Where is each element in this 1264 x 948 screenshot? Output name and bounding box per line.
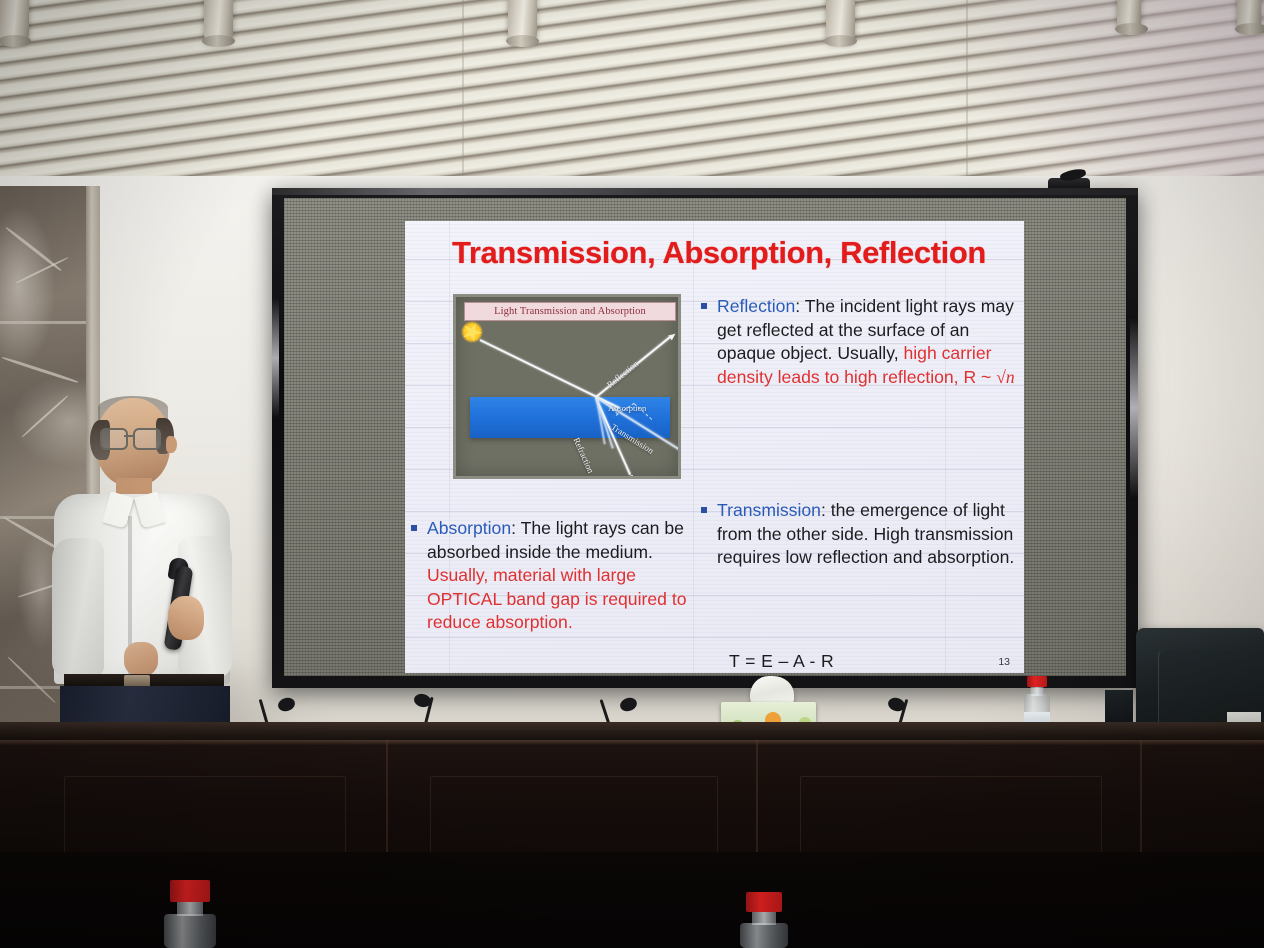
- left-hand: [124, 642, 158, 676]
- screen-bezel-top: [272, 188, 1138, 195]
- diagram-caption: Light Transmission and Absorption: [464, 302, 676, 321]
- ceiling-light-sheen: [834, 0, 1264, 196]
- ceiling-spotlight: [1117, 0, 1141, 30]
- desk-lip: [0, 740, 1264, 745]
- water-bottle[interactable]: [736, 892, 792, 948]
- right-hand: [168, 596, 204, 640]
- bullet-marker: [701, 303, 707, 309]
- lecture-hall-photo: Transmission, Absorption, Reflection Lig…: [0, 0, 1264, 948]
- bullet-absorption: Absorption: The light rays can be absorb…: [411, 517, 707, 635]
- led-panel-surface: Transmission, Absorption, Reflection Lig…: [284, 198, 1126, 676]
- refraction-ray-arrow: [627, 475, 635, 479]
- bullet-text-red: Usually, material with large OPTICAL ban…: [427, 565, 687, 632]
- bullet-keyword-absorption: Absorption: [427, 518, 511, 538]
- screen-bezel-right-glare: [1130, 318, 1138, 498]
- bullet-separator: :: [511, 518, 520, 538]
- left-arm: [52, 538, 104, 678]
- transmission-formula: T = E – A - R: [729, 651, 834, 672]
- eyeglasses-bridge: [124, 435, 133, 437]
- bullet-reflection: Reflection: The incident light rays may …: [701, 295, 1021, 389]
- bullet-transmission: Transmission: the emergence of light fro…: [701, 499, 1023, 570]
- bullet-separator: :: [795, 296, 804, 316]
- slide-page-number: 13: [998, 656, 1010, 668]
- light-transmission-diagram: Light Transmission and Absorption Reflec…: [453, 294, 681, 479]
- bullet-keyword-transmission: Transmission: [717, 500, 821, 520]
- water-bottle[interactable]: [160, 880, 220, 948]
- presentation-slide[interactable]: Transmission, Absorption, Reflection Lig…: [405, 221, 1024, 673]
- led-video-wall[interactable]: Transmission, Absorption, Reflection Lig…: [272, 188, 1138, 688]
- ceiling-spotlight: [0, 0, 29, 42]
- bullet-text-red-math: √n: [996, 367, 1014, 387]
- slatted-ceiling-panel: [0, 0, 1264, 196]
- bullet-separator: :: [821, 500, 831, 520]
- ceiling-seam: [966, 0, 968, 196]
- screen-bezel-left-glare: [272, 298, 279, 418]
- ceiling-spotlight: [826, 0, 855, 42]
- presenter: [28, 398, 258, 748]
- ear: [166, 436, 177, 453]
- bullet-marker: [411, 525, 417, 531]
- ceiling-spotlight: [508, 0, 537, 42]
- eyeglasses-icon: [133, 428, 161, 450]
- slide-title: Transmission, Absorption, Reflection: [419, 235, 1019, 271]
- ceiling-spotlight: [204, 0, 233, 42]
- bullet-keyword-reflection: Reflection: [717, 296, 795, 316]
- diagram-label-absorption: Absorption: [608, 403, 646, 413]
- bullet-marker: [701, 507, 707, 513]
- diagram-label-reflection: Reflection: [605, 359, 640, 390]
- ceiling-spotlight: [1237, 0, 1261, 30]
- diagram-label-refraction: Refraction: [571, 436, 596, 475]
- eyeglasses-icon: [100, 428, 128, 450]
- reflected-ray-arrow: [668, 331, 677, 340]
- ceiling-seam: [462, 0, 464, 196]
